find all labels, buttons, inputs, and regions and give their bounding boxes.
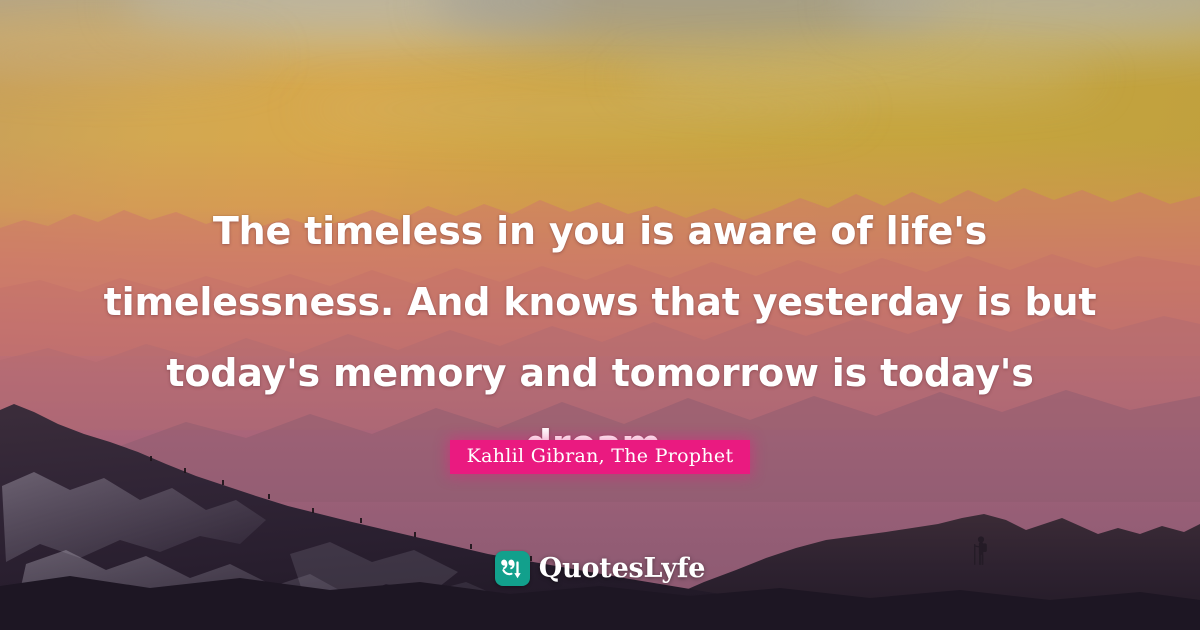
- quote-image-card: The timeless in you is aware of life's t…: [0, 0, 1200, 630]
- brand-logo-text: QuotesLyfe: [539, 553, 706, 584]
- quote-line: The timeless in you is aware of life's: [90, 196, 1110, 267]
- cloud-band: [300, 92, 860, 126]
- quote-smiley-icon: [495, 551, 530, 586]
- quote-line: timelessness. And knows that yesterday i…: [90, 267, 1110, 338]
- brand-logo[interactable]: QuotesLyfe: [0, 551, 1200, 586]
- cloud-band: [620, 58, 1100, 98]
